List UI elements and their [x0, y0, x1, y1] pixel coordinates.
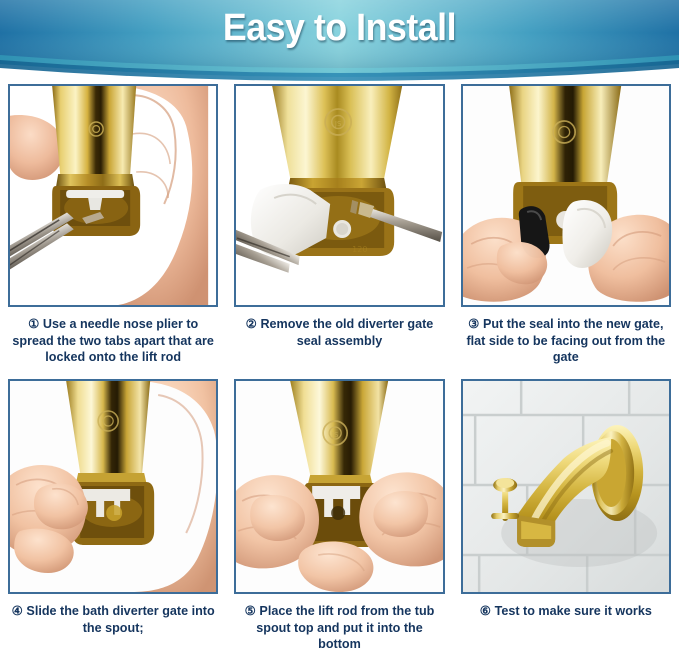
- step-card-5: JS: [226, 379, 452, 659]
- step-caption-4: ④ Slide the bath diverter gate into the …: [8, 603, 218, 636]
- product-instruction-graphic: Easy to Install: [0, 0, 679, 659]
- photo-step-2-remove-old-seal: JS 120: [234, 84, 444, 307]
- page-title: Easy to Install: [20, 7, 658, 50]
- svg-text:120: 120: [352, 245, 367, 254]
- step-card-2: JS 120: [226, 84, 452, 379]
- photo-step-6-installed-spout-test: [461, 379, 671, 594]
- step-caption-2: ② Remove the old diverter gate seal asse…: [234, 316, 444, 349]
- steps-grid: ① Use a needle nose plier to spread the …: [0, 84, 679, 659]
- photo-step-3-seal-into-new-gate: [461, 84, 671, 307]
- step-card-1: ① Use a needle nose plier to spread the …: [0, 84, 226, 379]
- step-card-4: ④ Slide the bath diverter gate into the …: [0, 379, 226, 659]
- steps-row-bottom: ④ Slide the bath diverter gate into the …: [0, 379, 679, 659]
- step-caption-5: ⑤ Place the lift rod from the tub spout …: [234, 603, 444, 653]
- step-caption-6: ⑥ Test to make sure it works: [478, 603, 654, 620]
- svg-text:JS: JS: [334, 120, 342, 128]
- step-caption-3: ③ Put the seal into the new gate, flat s…: [461, 316, 671, 366]
- header-banner: Easy to Install: [0, 0, 679, 84]
- photo-step-5-place-lift-rod: JS: [234, 379, 444, 594]
- step-card-6: ⑥ Test to make sure it works: [453, 379, 679, 659]
- svg-text:JS: JS: [331, 431, 339, 439]
- photo-step-1-pliers-spread-tabs: [8, 84, 218, 307]
- step-card-3: ③ Put the seal into the new gate, flat s…: [453, 84, 679, 379]
- step-caption-1: ① Use a needle nose plier to spread the …: [8, 316, 218, 366]
- photo-step-4-slide-gate-into-spout: [8, 379, 218, 594]
- steps-row-top: ① Use a needle nose plier to spread the …: [0, 84, 679, 379]
